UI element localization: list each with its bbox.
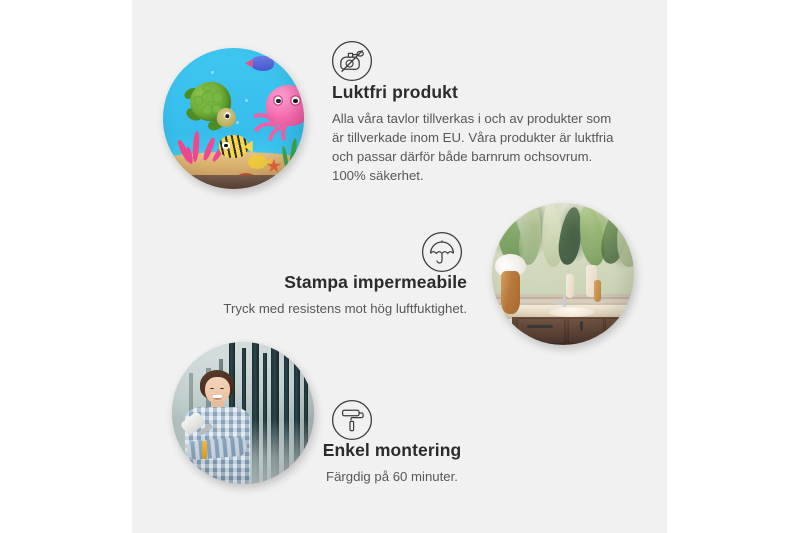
bathroom-tropical-wallpaper-illustration (492, 203, 634, 345)
feature-heading: Luktfri produkt (332, 82, 618, 104)
feature-body: Tryck med resistens mot hög luftfuktighe… (187, 299, 467, 318)
feature-body: Alla våra tavlor tillverkas i och av pro… (332, 109, 618, 186)
feature-image-waterproof (492, 203, 634, 345)
feature-text-waterproof: Stampa impermeabile Tryck med resistens … (187, 272, 467, 318)
feature-heading: Enkel montering (270, 440, 514, 462)
paint-roller-icon (331, 399, 373, 446)
no-scent-perfume-icon (331, 40, 373, 87)
feature-heading: Stampa impermeabile (187, 272, 467, 294)
screenshot-stage: Luktfri produkt Alla våra tavlor tillver… (0, 0, 800, 533)
feature-body: Färgdig på 60 minuter. (270, 467, 514, 486)
feature-text-odourless: Luktfri produkt Alla våra tavlor tillver… (332, 82, 618, 185)
feature-image-odourless (163, 48, 304, 189)
underwater-cartoon-illustration (163, 48, 304, 189)
umbrella-icon (421, 231, 463, 278)
feature-text-easy-install: Enkel montering Färgdig på 60 minuter. (270, 440, 514, 486)
